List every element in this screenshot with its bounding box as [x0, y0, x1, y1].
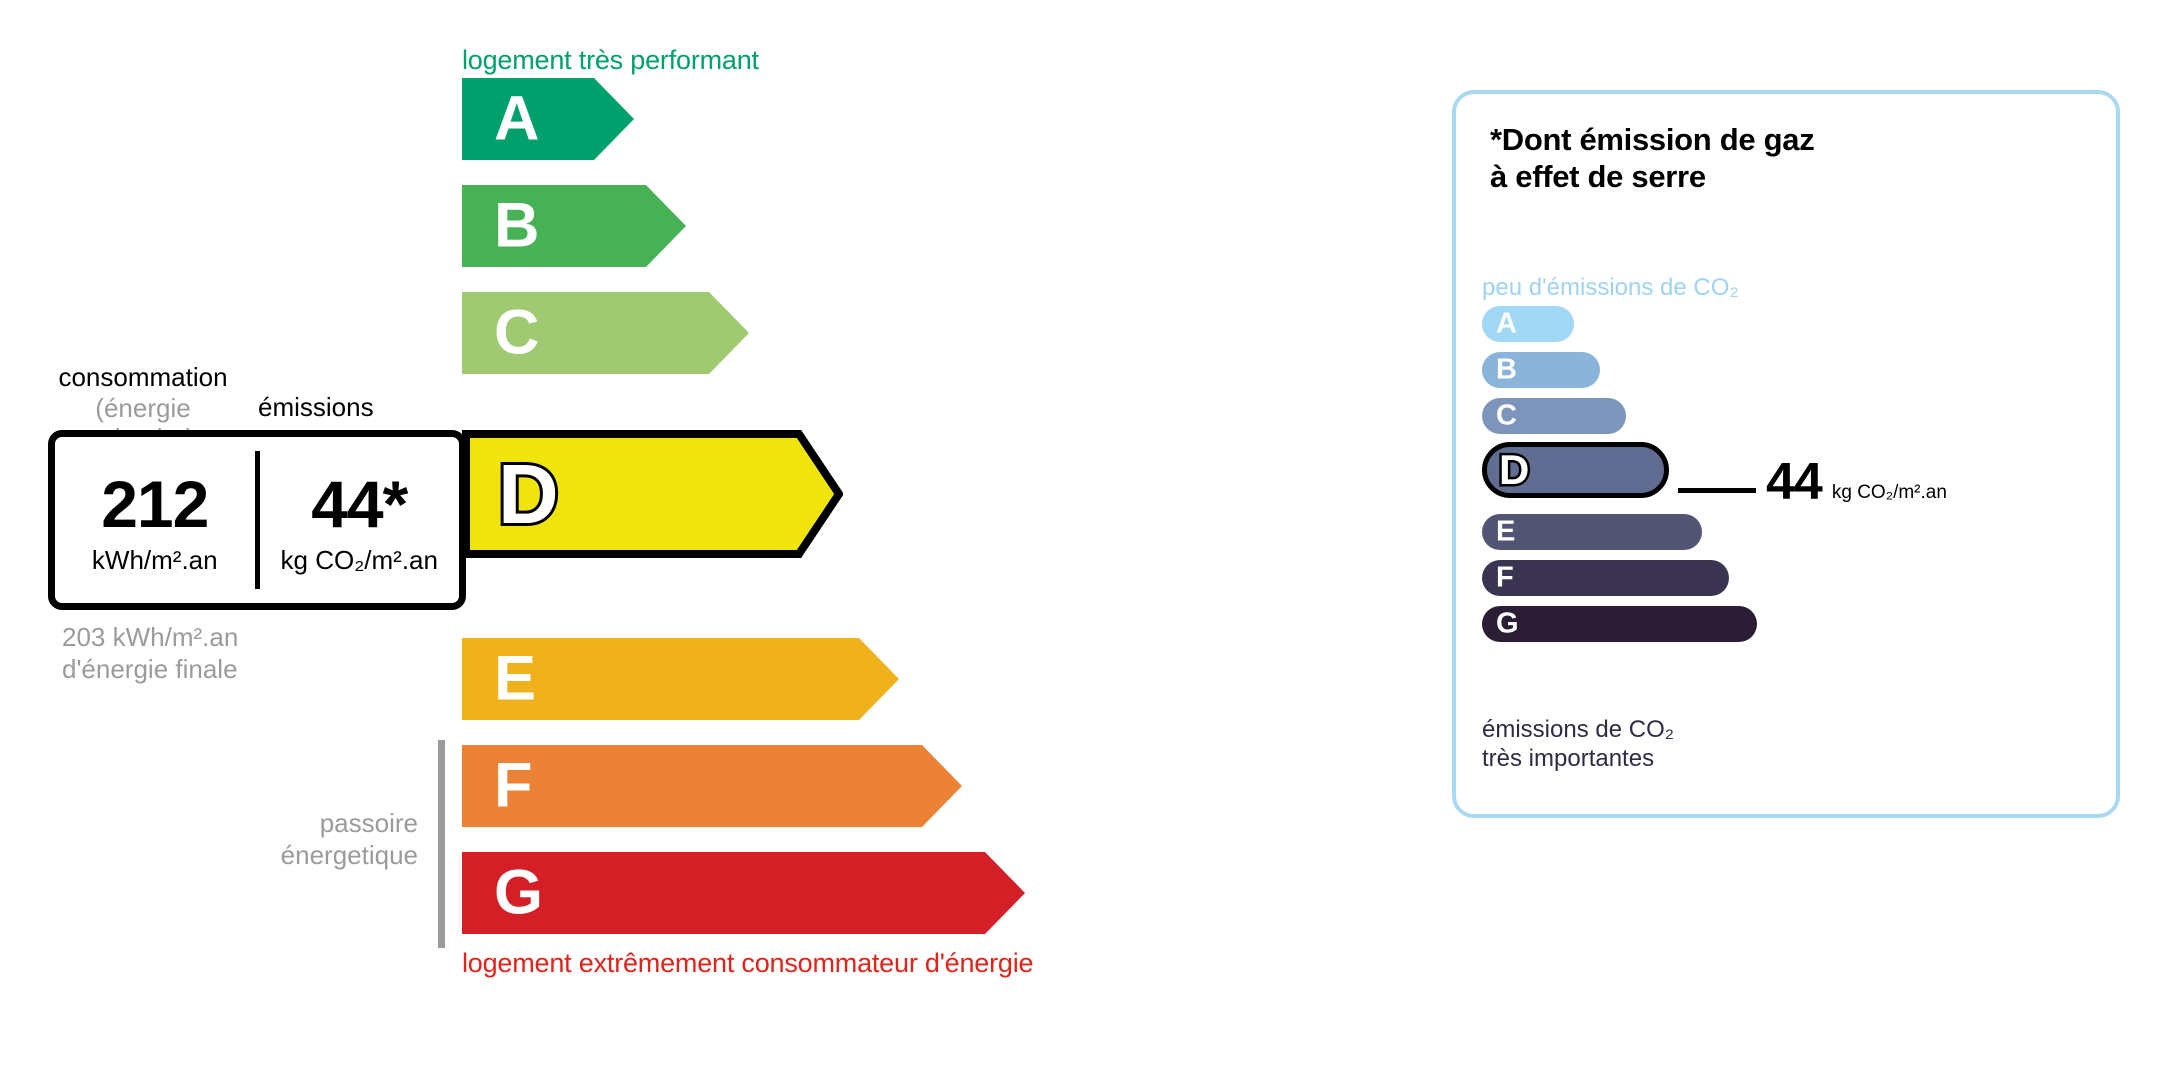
co2-class-row-a: A	[1482, 306, 1574, 342]
co2-class-letter-f: F	[1496, 564, 1514, 593]
co2-class-row-b: B	[1482, 352, 1600, 388]
energy-class-row-f: F	[462, 745, 962, 827]
co2-emissions-panel: *Dont émission de gaz à effet de serre p…	[1452, 90, 2120, 818]
energy-top-caption: logement très performant	[462, 45, 759, 76]
co2-class-row-f: F	[1482, 560, 1729, 596]
passoire-bracket	[438, 740, 445, 948]
co2-class-row-g: G	[1482, 606, 1757, 642]
co2-bar-c: C	[1482, 398, 1626, 434]
passoire-label: passoire énergetique	[200, 808, 418, 871]
energy-arrow-c: C	[462, 292, 749, 374]
co2-value-annotation: 44 kg CO₂/m².an	[1766, 456, 1947, 508]
emission-value: 44*	[311, 471, 407, 537]
energy-arrow-f: F	[462, 745, 962, 827]
co2-title-line1: *Dont émission de gaz	[1490, 122, 1814, 157]
co2-value: 44	[1766, 456, 1822, 508]
co2-bottom-caption: émissions de CO₂ très importantes	[1482, 716, 1674, 774]
energy-arrow-shape-e	[462, 638, 899, 720]
energy-class-row-g: G	[462, 852, 1025, 934]
energy-bottom-caption: logement extrêmement consommateur d'éner…	[462, 948, 1033, 979]
co2-class-letter-e: E	[1496, 518, 1515, 547]
emission-value-group: 44* kg CO₂/m².an	[260, 437, 460, 603]
co2-bottom-line2: très importantes	[1482, 745, 1654, 772]
energy-arrow-b: B	[462, 185, 686, 267]
co2-unit: kg CO₂/m².an	[1832, 482, 1947, 504]
passoire-line1: passoire	[320, 808, 418, 838]
energy-arrow-shape-f	[462, 745, 962, 827]
co2-class-letter-d: D	[1499, 449, 1529, 491]
energy-class-row-a: A	[462, 78, 634, 160]
energy-arrow-shape-a	[462, 78, 634, 160]
passoire-line2: énergetique	[281, 840, 418, 870]
emissions-label: émissions	[258, 392, 374, 423]
energy-value-box: 212 kWh/m².an 44* kg CO₂/m².an	[48, 430, 466, 610]
final-energy-line2: d'énergie finale	[62, 654, 238, 684]
emission-unit: kg CO₂/m².an	[281, 545, 438, 576]
co2-class-row-c: C	[1482, 398, 1626, 434]
co2-bar-g: G	[1482, 606, 1757, 642]
energy-arrow-g: G	[462, 852, 1025, 934]
consumption-unit: kWh/m².an	[92, 545, 218, 576]
consumption-value-group: 212 kWh/m².an	[55, 437, 255, 603]
energy-arrow-a: A	[462, 78, 634, 160]
energy-arrow-d: D	[462, 430, 843, 558]
co2-bar-f: F	[1482, 560, 1729, 596]
energy-arrow-shape-b	[462, 185, 686, 267]
co2-class-row-e: E	[1482, 514, 1702, 550]
co2-bar-d: D	[1482, 442, 1669, 498]
final-energy-line1: 203 kWh/m².an	[62, 622, 238, 652]
energy-arrow-e: E	[462, 638, 899, 720]
energy-class-row-b: B	[462, 185, 686, 267]
co2-bottom-line1: émissions de CO₂	[1482, 716, 1674, 743]
co2-class-letter-b: B	[1496, 356, 1517, 385]
consumption-value: 212	[101, 471, 208, 537]
co2-class-letter-g: G	[1496, 610, 1519, 639]
energy-arrow-shape-c	[462, 292, 749, 374]
co2-connector-line	[1678, 488, 1756, 493]
final-energy-label: 203 kWh/m².an d'énergie finale	[62, 622, 238, 685]
consommation-label-main: consommation	[58, 362, 227, 392]
co2-class-letter-c: C	[1496, 402, 1517, 431]
co2-panel-title: *Dont émission de gaz à effet de serre	[1490, 122, 1814, 195]
co2-class-letter-a: A	[1496, 310, 1517, 339]
energy-arrow-shape-g	[462, 852, 1025, 934]
energy-performance-diagram: logement très performant ABCDEFG consomm…	[0, 0, 1380, 1079]
co2-class-row-d: D	[1482, 442, 1669, 498]
co2-bar-e: E	[1482, 514, 1702, 550]
co2-bar-a: A	[1482, 306, 1574, 342]
energy-class-row-d: D	[462, 430, 843, 558]
co2-title-line2: à effet de serre	[1490, 159, 1706, 194]
co2-bar-b: B	[1482, 352, 1600, 388]
energy-class-row-c: C	[462, 292, 749, 374]
co2-top-caption: peu d'émissions de CO₂	[1482, 274, 1739, 302]
energy-arrow-shape-d	[462, 430, 843, 558]
energy-class-row-e: E	[462, 638, 899, 720]
